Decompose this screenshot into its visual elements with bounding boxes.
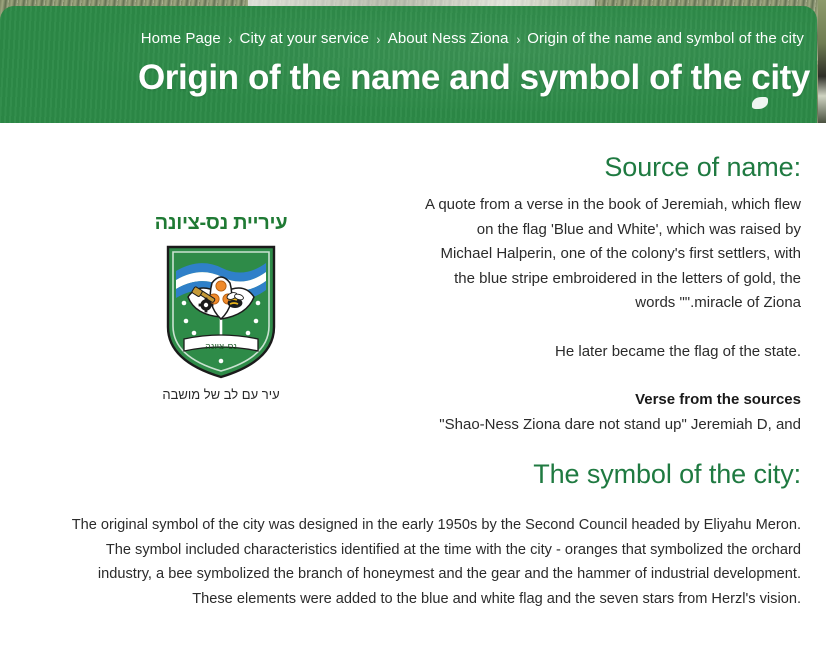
- logo-tagline-hebrew: עיר עם לב של מושבה: [133, 386, 309, 404]
- chevron-left-icon: ‹: [376, 29, 382, 49]
- breadcrumb-item-current[interactable]: Origin of the name and symbol of the cit…: [521, 29, 810, 49]
- paragraph-quote: A quote from a verse in the book of Jere…: [421, 193, 801, 316]
- symbol-line-3: .industry, a bee symbolized the branch o…: [21, 562, 801, 587]
- symbol-line-4: .These elements were added to the blue a…: [21, 587, 801, 612]
- municipality-logo: עיריית נס-ציונה: [133, 211, 309, 404]
- logo-wordmark-hebrew: עיריית נס-ציונה: [133, 211, 309, 235]
- municipality-logo-block: עיריית נס-ציונה: [21, 193, 421, 404]
- paragraph-spacer: [421, 316, 801, 340]
- chevron-left-icon: ‹: [227, 29, 233, 49]
- paragraph-spacer: [421, 364, 801, 388]
- breadcrumb: Origin of the name and symbol of the cit…: [135, 29, 810, 49]
- page-header: Origin of the name and symbol of the cit…: [0, 0, 826, 123]
- breadcrumb-item-city-at-your-service[interactable]: City at your service: [234, 29, 376, 49]
- source-of-name-text: A quote from a verse in the book of Jere…: [421, 193, 801, 437]
- symbol-of-the-city-text: .The original symbol of the city was des…: [21, 513, 801, 611]
- symbol-line-2: The symbol included characteristics iden…: [21, 538, 801, 563]
- section-heading-symbol-of-the-city: :The symbol of the city: [21, 457, 801, 491]
- breadcrumb-item-about-ness-ziona[interactable]: About Ness Ziona: [382, 29, 515, 49]
- page-title: Origin of the name and symbol of the cit…: [16, 55, 810, 101]
- page-root: Origin of the name and symbol of the cit…: [0, 0, 826, 646]
- right-edge-sliver: [818, 0, 826, 123]
- crest-banner-text: נס-ציונה: [205, 342, 237, 352]
- subheading-verse-from-the-sources: Verse from the sources: [421, 388, 801, 413]
- verse-text: Shao-Ness Ziona dare not stand up" Jerem…: [421, 413, 801, 438]
- chevron-left-icon: ‹: [515, 29, 521, 49]
- symbol-line-1: .The original symbol of the city was des…: [21, 513, 801, 538]
- city-crest-icon: נס-ציונה: [162, 241, 280, 381]
- paragraph-flag-of-state: .He later became the flag of the state: [421, 340, 801, 365]
- source-of-name-row: A quote from a verse in the book of Jere…: [21, 193, 801, 437]
- section-heading-source-of-name: :Source of name: [21, 150, 801, 184]
- breadcrumb-item-home-page[interactable]: Home Page: [135, 29, 227, 49]
